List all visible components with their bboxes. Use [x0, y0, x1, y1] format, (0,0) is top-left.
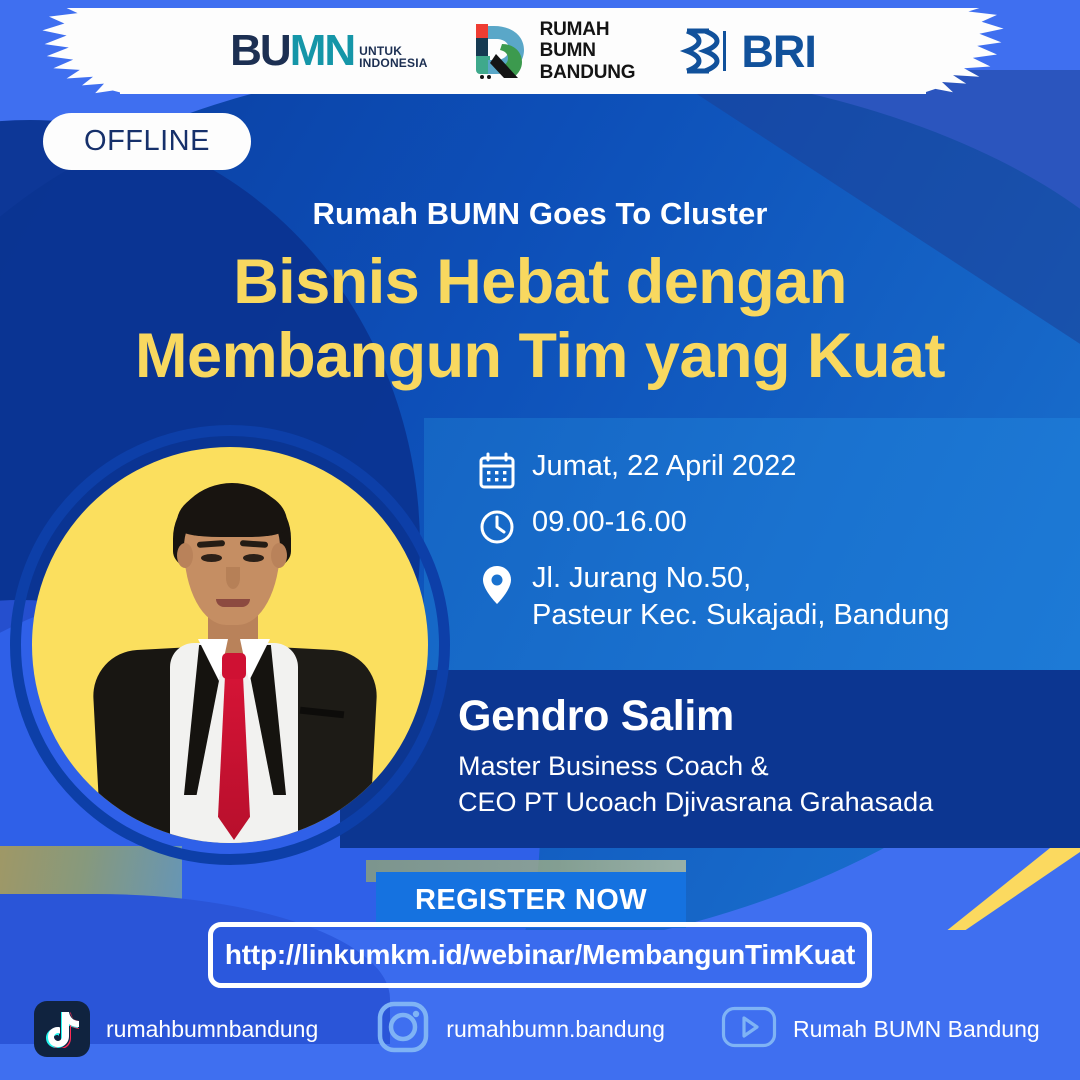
bumn-logo-mark: BUMN [230, 29, 354, 73]
registration-url[interactable]: http://linkumkm.id/webinar/MembangunTimK… [225, 939, 855, 971]
social-item-youtube[interactable]: Rumah BUMN Bandung [721, 1006, 1040, 1053]
register-banner-label: REGISTER NOW [415, 884, 647, 917]
bri-logo-text: BRI [741, 29, 816, 74]
social-handle-instagram[interactable]: rumahbumn.bandung [446, 1016, 665, 1043]
detail-text-time: 09.00-16.00 [532, 504, 687, 541]
rumah-bumn-logo-text-line2: BUMN [540, 40, 636, 61]
speaker-info: Gendro Salim Master Business Coach & CEO… [458, 692, 1058, 821]
bumn-logo-subtext-line2: INDONESIA [359, 57, 427, 70]
detail-row-date: Jumat, 22 April 2022 [478, 448, 1078, 490]
header-logo-row: BUMN UNTUK INDONESIA RUM [120, 8, 926, 94]
register-banner: REGISTER NOW [376, 872, 686, 928]
rumah-bumn-logo-mark [472, 20, 530, 82]
tiktok-icon[interactable] [34, 1001, 90, 1057]
rumah-bumn-logo-text: RUMAH BUMN BANDUNG [540, 19, 636, 83]
speaker-name: Gendro Salim [458, 692, 1058, 741]
title-block: Rumah BUMN Goes To Cluster Bisnis Hebat … [0, 196, 1080, 393]
bumn-logo-mark-part2: MN [290, 26, 354, 75]
bri-logo: BRI [679, 27, 816, 75]
photo-eye-right [243, 554, 264, 562]
event-headline: Bisnis Hebat dengan Membangun Tim yang K… [0, 246, 1080, 393]
event-headline-line2: Membangun Tim yang Kuat [0, 320, 1080, 394]
social-handle-tiktok[interactable]: rumahbumnbandung [106, 1016, 318, 1043]
detail-row-location: Jl. Jurang No.50, Pasteur Kec. Sukajadi,… [478, 560, 1078, 634]
event-kicker: Rumah BUMN Goes To Cluster [0, 196, 1080, 232]
event-poster: BUMN UNTUK INDONESIA RUM [0, 0, 1080, 1080]
clock-icon [478, 504, 532, 546]
event-headline-line1: Bisnis Hebat dengan [0, 246, 1080, 320]
bumn-logo-subtext: UNTUK INDONESIA [359, 45, 427, 73]
speaker-role-line1: Master Business Coach & [458, 749, 1058, 785]
status-badge: OFFLINE [43, 113, 251, 170]
social-handle-youtube[interactable]: Rumah BUMN Bandung [793, 1016, 1040, 1043]
photo-eye-left [201, 554, 222, 562]
registration-url-box[interactable]: http://linkumkm.id/webinar/MembangunTimK… [208, 922, 872, 988]
rumah-bumn-bandung-logo: RUMAH BUMN BANDUNG [472, 19, 636, 83]
photo-necktie-knot [222, 653, 246, 679]
photo-mouth [216, 599, 250, 607]
bri-logo-mark [679, 27, 739, 75]
photo-nose [226, 567, 240, 589]
bumn-logo-mark-part1: BU [230, 26, 290, 75]
social-item-instagram[interactable]: rumahbumn.bandung [376, 1000, 665, 1059]
location-pin-icon [478, 560, 532, 606]
event-details-list: Jumat, 22 April 2022 09.00-16.00 Jl. Jur… [478, 448, 1078, 648]
calendar-icon [478, 448, 532, 490]
bumn-logo: BUMN UNTUK INDONESIA [230, 29, 427, 73]
detail-text-date: Jumat, 22 April 2022 [532, 448, 796, 485]
status-badge-label: OFFLINE [84, 125, 210, 158]
youtube-icon[interactable] [721, 1006, 777, 1053]
photo-ear-right [271, 543, 287, 568]
photo-hair-front [177, 487, 287, 537]
instagram-icon[interactable] [376, 1000, 430, 1059]
detail-row-time: 09.00-16.00 [478, 504, 1078, 546]
speaker-photo [32, 447, 428, 843]
detail-text-location: Jl. Jurang No.50, Pasteur Kec. Sukajadi,… [532, 560, 950, 634]
speaker-role: Master Business Coach & CEO PT Ucoach Dj… [458, 749, 1058, 821]
detail-text-location-line1: Jl. Jurang No.50, [532, 560, 950, 597]
social-bar: rumahbumnbandung rumahbumn.bandung Rumah… [0, 998, 1080, 1060]
rumah-bumn-logo-text-line1: RUMAH [540, 19, 636, 40]
photo-ear-left [177, 543, 193, 568]
social-item-tiktok[interactable]: rumahbumnbandung [34, 1001, 318, 1057]
detail-text-location-line2: Pasteur Kec. Sukajadi, Bandung [532, 597, 950, 634]
speaker-role-line2: CEO PT Ucoach Djivasrana Grahasada [458, 785, 1058, 821]
rumah-bumn-logo-text-line3: BANDUNG [540, 62, 636, 83]
